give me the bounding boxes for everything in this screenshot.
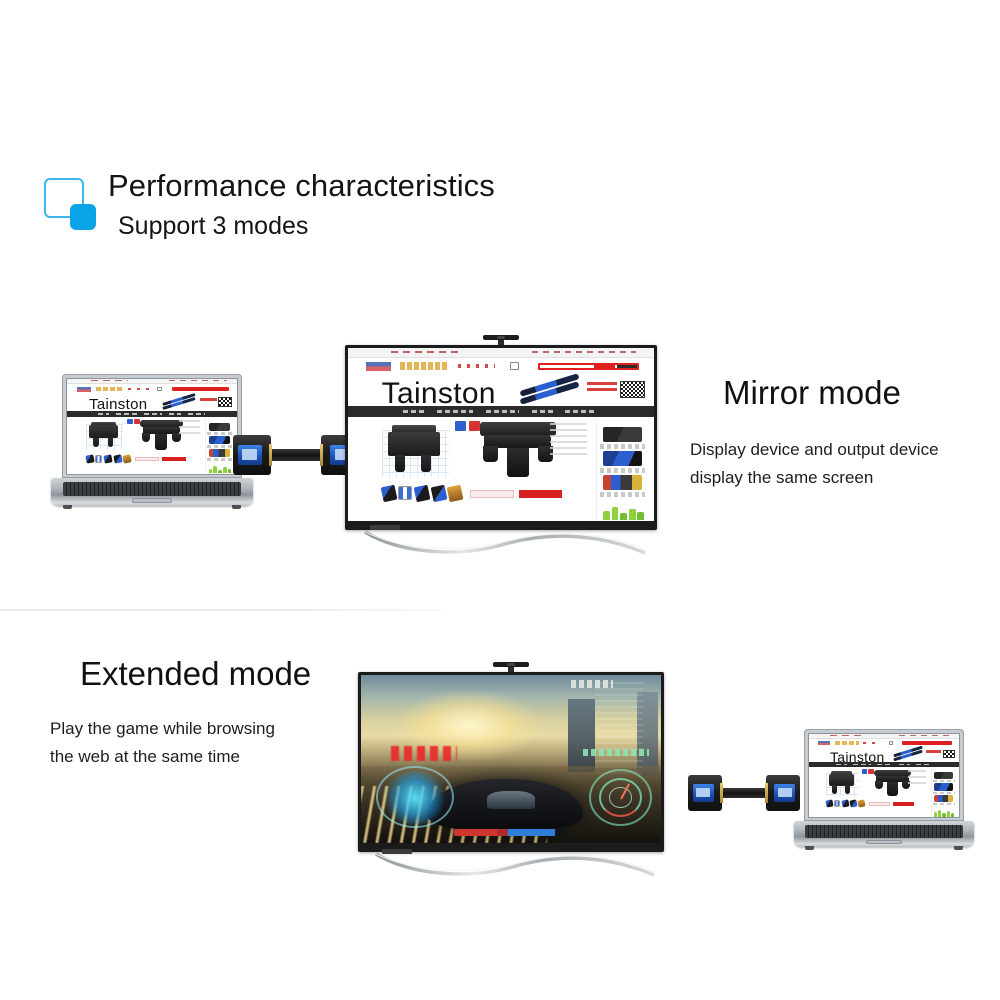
related-product-item[interactable] (603, 475, 642, 490)
cable-wire (268, 449, 323, 460)
related-product-item[interactable] (603, 427, 642, 442)
nav-item[interactable] (899, 764, 910, 766)
square-filled-shape (70, 204, 96, 230)
shop-category-links (863, 742, 881, 744)
purchase-buttons[interactable] (135, 457, 186, 462)
vga-main-product-image (874, 770, 912, 799)
related-product-caption (207, 445, 232, 448)
purchase-buttons[interactable] (869, 802, 914, 806)
product-thumbnail-strip[interactable] (382, 486, 462, 501)
buy-now-button[interactable] (519, 490, 562, 498)
product-flag-badges (127, 419, 141, 424)
mirror-target-monitor: Tainston (345, 345, 657, 555)
laptop-base (794, 821, 973, 847)
promo-banner (200, 398, 217, 404)
shop-search-bar[interactable] (172, 387, 228, 391)
game-hud-side-label (583, 749, 649, 756)
related-product-item[interactable] (934, 783, 953, 790)
purchase-buttons[interactable] (470, 490, 562, 498)
vga-plug-left (688, 772, 722, 814)
qr-code-image (620, 381, 644, 398)
shop-utility-row (348, 358, 654, 377)
cart-icon[interactable] (157, 387, 162, 392)
related-product-item[interactable] (934, 772, 953, 779)
buy-now-button[interactable] (893, 802, 914, 806)
game-hud-gauge (589, 769, 652, 826)
monitor-panel: Tainston (345, 345, 657, 530)
topbar-right-links (532, 351, 636, 353)
add-to-cart-button[interactable] (135, 457, 159, 462)
related-product-caption (933, 792, 955, 794)
product-spec-lines (550, 423, 587, 454)
nav-item[interactable] (188, 413, 205, 415)
nav-item[interactable] (169, 413, 181, 415)
shop-search-bar[interactable] (538, 363, 639, 370)
search-secondary-button[interactable] (617, 365, 636, 368)
laptop-base (51, 478, 253, 506)
laptop-touchpad[interactable] (132, 498, 172, 502)
related-product-item[interactable] (603, 451, 642, 466)
laptop-foot (63, 505, 72, 509)
related-product-item[interactable] (209, 436, 230, 444)
extended-vga-cable (688, 772, 800, 814)
laptop-screen: Tainston (66, 378, 238, 475)
extended-source-laptop: Tainston (804, 729, 964, 847)
vga-product-thumbnail (89, 422, 118, 449)
shop-logo-icon (366, 362, 390, 371)
game-warning-text (391, 746, 457, 761)
laptop-foot (232, 505, 241, 509)
game-hud-top-label (571, 680, 613, 688)
shop-brand-row: Tainston (67, 395, 237, 411)
buy-now-button[interactable] (162, 457, 186, 462)
laptop-lid: Tainston (62, 374, 242, 478)
search-button[interactable] (594, 365, 615, 368)
topbar-left-links (91, 380, 128, 381)
vga-product-thumbnail (388, 425, 440, 475)
related-product-caption (207, 432, 232, 435)
cable-wire (719, 788, 768, 798)
game-building (595, 682, 643, 776)
extended-target-tv (358, 672, 664, 877)
nav-item[interactable] (532, 410, 553, 414)
shop-topbar (348, 348, 654, 358)
topbar-right-links (169, 380, 227, 381)
tv-stand (358, 852, 664, 877)
product-thumbnail-strip[interactable] (826, 800, 865, 807)
qr-code-image (943, 750, 955, 758)
performance-characteristics-header: Performance characteristics Support 3 mo… (44, 172, 664, 252)
mirror-mode-description: Display device and output device display… (690, 436, 990, 491)
page-subtitle: Support 3 modes (118, 212, 308, 241)
mirror-source-laptop: Tainston (62, 374, 242, 506)
vga-plug-right (766, 772, 800, 814)
shop-badges (96, 387, 123, 391)
nav-item[interactable] (144, 413, 163, 415)
shop-logo-icon (818, 741, 830, 745)
shop-body (809, 767, 959, 817)
shop-body (67, 417, 237, 474)
hero-cable-image (162, 397, 196, 408)
shop-category-links (128, 388, 148, 390)
related-product-caption (600, 444, 645, 449)
topbar-left-links (830, 735, 863, 736)
game-hud-progress-bar (454, 829, 568, 837)
add-to-cart-button[interactable] (869, 802, 890, 806)
nav-item[interactable] (437, 410, 474, 414)
cart-icon[interactable] (510, 362, 519, 370)
cart-icon[interactable] (889, 741, 894, 745)
game-boost-ring (376, 766, 454, 828)
related-product-caption (600, 492, 645, 497)
vga-plug-left (233, 432, 271, 478)
nav-item[interactable] (877, 764, 894, 766)
shop-utility-row (67, 384, 237, 394)
shop-brand-row: Tainston (348, 377, 654, 406)
laptop-touchpad[interactable] (866, 840, 902, 844)
qr-code-image (218, 397, 232, 406)
game-car-windshield (487, 791, 535, 809)
related-product-item[interactable] (209, 449, 230, 457)
vga-product-thumbnail (829, 771, 855, 795)
nav-item[interactable] (565, 410, 596, 414)
shop-search-bar[interactable] (902, 741, 952, 745)
related-product-caption (207, 458, 232, 461)
product-flag-badges (455, 421, 479, 430)
nav-item[interactable] (116, 413, 136, 415)
monitor-shop-page: Tainston (348, 348, 654, 521)
nav-item[interactable] (98, 413, 110, 415)
product-flag-badges (862, 769, 874, 773)
nav-item[interactable] (836, 764, 847, 766)
monitor-stand (345, 530, 657, 555)
product-spec-lines (908, 770, 926, 785)
overlapping-squares-icon (44, 178, 96, 230)
laptop-screen: Tainston (808, 733, 960, 818)
green-cable-thumbnails (208, 465, 230, 473)
related-product-item[interactable] (209, 423, 230, 431)
laptop-shop-page: Tainston (809, 734, 959, 817)
shop-badges (835, 741, 859, 745)
tv-stand-svg (358, 852, 664, 877)
green-cable-thumbnails (602, 505, 642, 520)
laptop-shop-page: Tainston (67, 379, 237, 474)
shop-utility-row (809, 739, 959, 748)
section-divider (0, 609, 443, 611)
game-building (568, 699, 595, 773)
shop-category-links (458, 364, 495, 368)
add-to-cart-button[interactable] (470, 490, 513, 498)
laptop-foot (805, 846, 814, 850)
nav-item[interactable] (853, 764, 871, 766)
extended-mode-title: Extended mode (80, 655, 311, 693)
nav-item[interactable] (916, 764, 931, 766)
tv-panel (358, 672, 664, 852)
shop-body (348, 417, 654, 521)
topbar-left-links (391, 351, 458, 353)
mirror-desc-line-2: display the same screen (690, 464, 990, 492)
laptop-keyboard[interactable] (63, 482, 240, 497)
related-product-caption (933, 780, 955, 782)
promo-banner (926, 750, 941, 755)
racing-game-screen (361, 675, 661, 843)
shop-logo-icon (77, 387, 91, 392)
hero-cable-image (893, 750, 923, 759)
laptop-lid: Tainston (804, 729, 964, 821)
hero-cable-image (519, 381, 580, 400)
related-product-item[interactable] (934, 795, 953, 802)
extended-mode-description: Play the game while browsing the web at … (50, 715, 370, 770)
related-product-caption (933, 803, 955, 805)
mirror-desc-line-1: Display device and output device (690, 436, 990, 464)
nav-item[interactable] (486, 410, 520, 414)
extended-desc-line-1: Play the game while browsing (50, 715, 370, 743)
green-cable-thumbnails (934, 810, 954, 817)
product-thumbnail-strip[interactable] (86, 455, 130, 463)
mirror-mode-title: Mirror mode (723, 374, 901, 412)
laptop-foot (954, 846, 963, 850)
product-spec-lines (179, 420, 199, 437)
monitor-screen: Tainston (348, 348, 654, 521)
vga-main-product-image (140, 420, 183, 453)
laptop-keyboard[interactable] (805, 825, 963, 839)
vga-main-product-image (480, 422, 557, 482)
topbar-right-links (899, 735, 950, 736)
nav-item[interactable] (403, 410, 424, 414)
tv-screen (361, 675, 661, 843)
related-products-sidebar (596, 419, 648, 519)
related-product-caption (600, 468, 645, 473)
shop-badges (400, 362, 449, 370)
promo-banner (587, 382, 618, 393)
extended-desc-line-2: the web at the same time (50, 743, 370, 771)
monitor-stand-svg (345, 530, 657, 555)
shop-navbar[interactable] (348, 406, 654, 417)
shop-brand-row: Tainston (809, 748, 959, 762)
page-title: Performance characteristics (108, 168, 495, 204)
mirror-vga-cable (233, 432, 359, 478)
